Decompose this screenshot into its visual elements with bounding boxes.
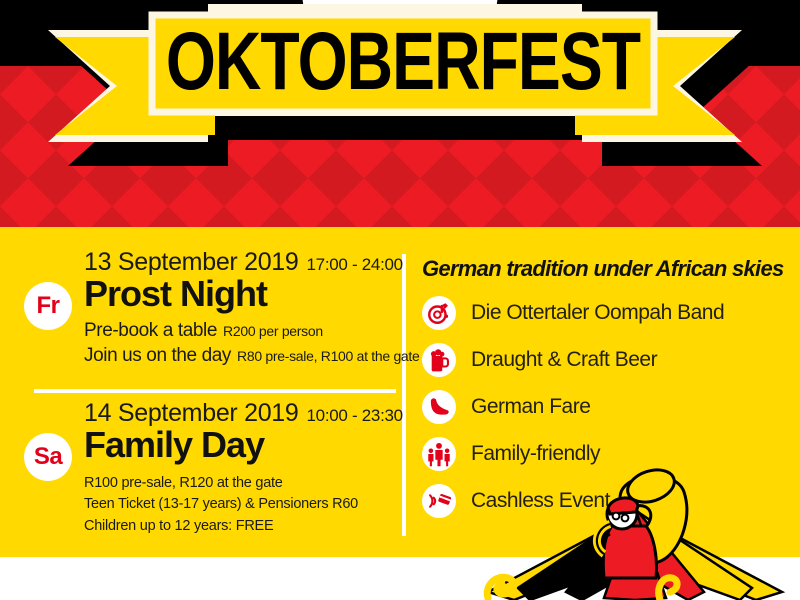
event-line-strong: Pre-book a table bbox=[84, 318, 217, 343]
event-line: Children up to 12 years: FREE bbox=[84, 516, 394, 538]
event-line-small: R200 per person bbox=[223, 322, 323, 341]
feature-row-family-friendly: Family-friendly bbox=[422, 437, 790, 471]
beer-mug-icon bbox=[422, 343, 456, 377]
feature-row-cashless: Cashless Event bbox=[422, 484, 790, 518]
features-column: German tradition under African skies Die… bbox=[422, 256, 790, 531]
feature-row-beer: Draught & Craft Beer bbox=[422, 343, 790, 377]
feature-label: German Fare bbox=[471, 395, 590, 419]
event-block-family-day: Sa 14 September 2019 10:00 - 23:30 Famil… bbox=[24, 399, 394, 538]
sausage-icon bbox=[422, 390, 456, 424]
day-badge-sa: Sa bbox=[24, 433, 72, 481]
oktoberfest-poster: SINCE 1977 OKTOBERFEST Fr 13 September 2… bbox=[0, 0, 800, 600]
page-title: OKTOBERFEST bbox=[158, 0, 648, 123]
event-line: Join us on the day R80 pre-sale, R100 at… bbox=[84, 343, 394, 368]
contactless-payment-icon bbox=[422, 484, 456, 518]
event-pricing-lines: Pre-book a table R200 per person Join us… bbox=[84, 318, 394, 369]
day-badge-fr: Fr bbox=[24, 282, 72, 330]
footer-band-white bbox=[0, 557, 800, 600]
event-time: 17:00 - 24:00 bbox=[307, 255, 403, 275]
feature-row-oompah-band: Die Ottertaler Oompah Band bbox=[422, 296, 790, 330]
event-title: Prost Night bbox=[84, 275, 394, 314]
event-line: Pre-book a table R200 per person bbox=[84, 318, 394, 343]
events-column: Fr 13 September 2019 17:00 - 24:00 Prost… bbox=[24, 248, 394, 538]
event-line: Teen Ticket (13-17 years) & Pensioners R… bbox=[84, 494, 394, 516]
feature-row-german-fare: German Fare bbox=[422, 390, 790, 424]
feature-label: Cashless Event bbox=[471, 489, 610, 513]
columns-divider-vertical bbox=[402, 254, 406, 536]
features-heading: German tradition under African skies bbox=[422, 256, 790, 282]
feature-label: Family-friendly bbox=[471, 442, 600, 466]
event-pricing-lines: R100 pre-sale, R120 at the gate Teen Tic… bbox=[84, 473, 394, 538]
event-line-small: R80 pre-sale, R100 at the gate bbox=[237, 347, 419, 366]
event-time: 10:00 - 23:30 bbox=[307, 406, 403, 426]
event-title: Family Day bbox=[84, 426, 394, 465]
event-line: R100 pre-sale, R120 at the gate bbox=[84, 473, 394, 495]
french-horn-icon bbox=[422, 296, 456, 330]
event-block-prost-night: Fr 13 September 2019 17:00 - 24:00 Prost… bbox=[24, 248, 394, 369]
feature-label: Die Ottertaler Oompah Band bbox=[471, 301, 724, 325]
event-line-strong: Join us on the day bbox=[84, 343, 231, 368]
feature-label: Draught & Craft Beer bbox=[471, 348, 657, 372]
family-group-icon bbox=[422, 437, 456, 471]
